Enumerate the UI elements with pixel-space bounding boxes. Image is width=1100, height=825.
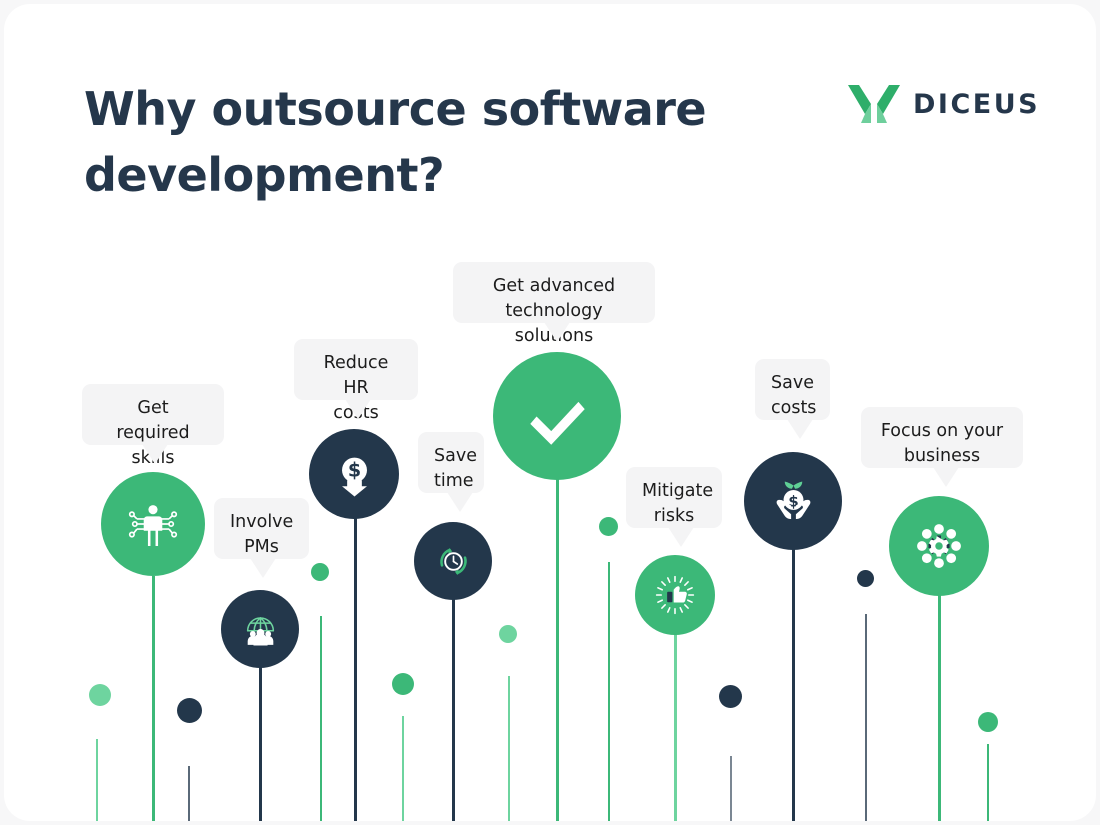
node-circle-mitigate-risks[interactable] — [635, 555, 715, 635]
node-label-get-advanced-technology-solutions: Get advanced technology solutions — [453, 262, 655, 323]
decorative-dot — [89, 684, 111, 706]
decorative-dot — [392, 673, 414, 695]
node-label-mitigate-risks: Mitigate risks — [626, 467, 722, 528]
node-label-text: Focus on your business — [881, 421, 1003, 466]
node-label-text: Mitigate risks — [642, 481, 713, 526]
label-tail — [933, 467, 959, 487]
label-tail — [668, 527, 694, 547]
decorative-stem — [865, 614, 867, 821]
node-label-involve-pms: Involve PMs — [214, 498, 309, 559]
node-stem-save-costs — [792, 549, 795, 821]
decorative-stem — [730, 756, 732, 821]
node-label-get-required-skills: Get required skills — [82, 384, 224, 445]
diceus-butterfly-logo-icon — [847, 83, 901, 125]
node-stem-reduce-hr-costs — [354, 518, 357, 821]
decorative-dot — [599, 517, 618, 536]
decorative-dot — [499, 625, 517, 643]
label-tail — [250, 558, 276, 578]
label-tail — [544, 322, 570, 342]
decorative-stem — [987, 744, 989, 821]
person-network-icon — [126, 497, 180, 551]
label-tail — [447, 492, 473, 512]
node-label-focus-on-your-business: Focus on your business — [861, 407, 1023, 468]
node-label-save-time: Save time — [418, 432, 484, 493]
brand-name: DICEUS — [913, 89, 1040, 120]
node-circle-reduce-hr-costs[interactable]: $ — [309, 429, 399, 519]
decorative-dot — [719, 685, 742, 708]
page-title: Why outsource software development? — [84, 76, 724, 208]
infographic-canvas: $ — [0, 0, 1100, 825]
node-label-reduce-hr-costs: Reduce HR costs — [294, 339, 418, 400]
decorative-dot — [978, 712, 998, 732]
node-circle-involve-pms[interactable] — [221, 590, 299, 668]
brand-logo: DICEUS — [847, 82, 1040, 126]
decorative-stem — [320, 616, 322, 821]
hands-money-bag-icon: $ — [768, 476, 819, 527]
node-stem-involve-pms — [259, 667, 262, 821]
dollar-down-arrow-icon: $ — [331, 451, 378, 498]
decorative-stem — [508, 676, 510, 821]
decorative-stem — [608, 562, 610, 821]
decorative-dot — [177, 698, 202, 723]
check-mark-icon — [524, 383, 591, 450]
svg-text:$: $ — [347, 458, 360, 481]
decorative-stem — [188, 766, 190, 821]
node-stem-focus-on-your-business — [938, 595, 941, 821]
node-circle-get-required-skills[interactable] — [101, 472, 205, 576]
diceus-butterfly-logo-svg — [847, 83, 901, 125]
label-tail — [345, 399, 371, 419]
label-tail — [787, 419, 813, 439]
node-circle-get-advanced-technology-solutions[interactable] — [493, 352, 621, 480]
node-label-text: Save time — [434, 446, 477, 491]
node-circle-focus-on-your-business[interactable] — [889, 496, 989, 596]
node-stem-get-advanced-technology-solutions — [556, 479, 559, 821]
node-label-text: Save costs — [771, 373, 816, 418]
node-stem-get-required-skills — [152, 576, 155, 821]
decorative-dot — [311, 563, 329, 581]
globe-people-icon — [240, 609, 281, 650]
thumbs-up-icon — [654, 574, 696, 616]
gear-network-icon — [913, 520, 965, 572]
decorative-dot — [857, 570, 874, 587]
label-tail — [142, 444, 168, 464]
node-circle-save-time[interactable] — [414, 522, 492, 600]
infographic-card: $ — [4, 4, 1096, 821]
node-circle-save-costs[interactable]: $ — [744, 452, 842, 550]
node-stem-mitigate-risks — [674, 634, 677, 821]
decorative-stem — [96, 739, 98, 821]
node-label-save-costs: Save costs — [755, 359, 830, 420]
node-label-text: Involve PMs — [230, 512, 293, 557]
node-stem-save-time — [452, 599, 455, 821]
decorative-stem — [402, 716, 404, 821]
clock-refresh-icon — [433, 541, 474, 582]
